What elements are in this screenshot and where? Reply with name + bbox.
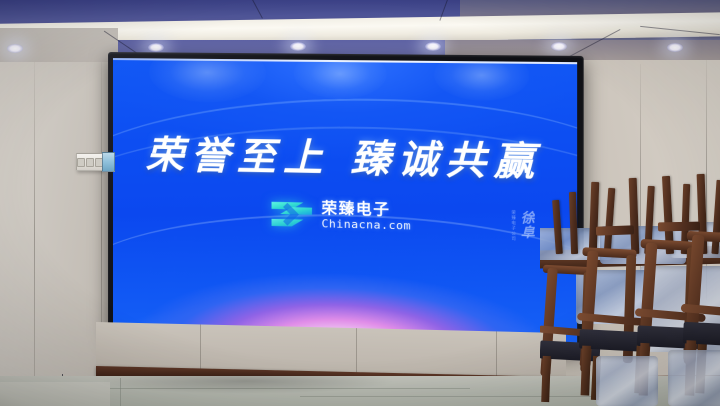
- blue-wall-module: [102, 152, 115, 172]
- upturned-chair-leg: [569, 192, 578, 254]
- company-url: Chinacna.com: [322, 218, 412, 231]
- downlight-icon: [7, 44, 23, 53]
- downlight-icon: [290, 42, 306, 51]
- downlight-icon: [667, 43, 683, 52]
- double-chevron-arrow-icon: [270, 196, 313, 232]
- plastic-dust-sheet: [596, 356, 658, 406]
- chair-leg: [581, 346, 591, 396]
- switch-button[interactable]: [77, 158, 85, 167]
- led-video-wall[interactable]: 荣誉至上臻诚共赢 荣臻: [108, 52, 584, 351]
- wall-switch-plate[interactable]: [76, 153, 104, 171]
- watermark-big-text: 徐阜: [519, 210, 534, 239]
- slogan-text: 荣誉至上臻诚共赢: [113, 123, 577, 187]
- furniture-group: [540, 170, 720, 406]
- upturned-chair-rail: [658, 222, 700, 232]
- photo-scene: 荣誉至上臻诚共赢 荣臻: [0, 0, 720, 406]
- slogan-part-1: 荣誉至上: [146, 134, 330, 180]
- screen-glare: [294, 58, 387, 99]
- switch-button[interactable]: [86, 158, 94, 167]
- downlight-icon: [425, 42, 441, 51]
- plastic-dust-sheet: [668, 350, 720, 406]
- wall-seam: [34, 62, 35, 406]
- screen-glare: [149, 58, 267, 103]
- downlight-icon: [551, 42, 567, 51]
- upturned-chair-rail: [596, 225, 634, 235]
- screen-watermark: 荣臻电子公司 徐阜: [511, 210, 534, 242]
- company-name-cn: 荣臻电子: [322, 200, 412, 217]
- logo-text-block: 荣臻电子 Chinacna.com: [322, 200, 412, 231]
- floor-left: [0, 382, 110, 406]
- company-logo-lockup: 荣臻电子 Chinacna.com: [113, 193, 577, 239]
- floor-shadow: [96, 368, 396, 394]
- display-screen: 荣誉至上臻诚共赢 荣臻: [113, 58, 577, 343]
- watermark-small-text: 荣臻电子公司: [511, 210, 516, 241]
- downlight-icon: [148, 43, 164, 52]
- chair-leg: [541, 356, 551, 402]
- slogan-part-2: 臻诚共赢: [350, 137, 541, 184]
- screen-glare: [434, 58, 529, 101]
